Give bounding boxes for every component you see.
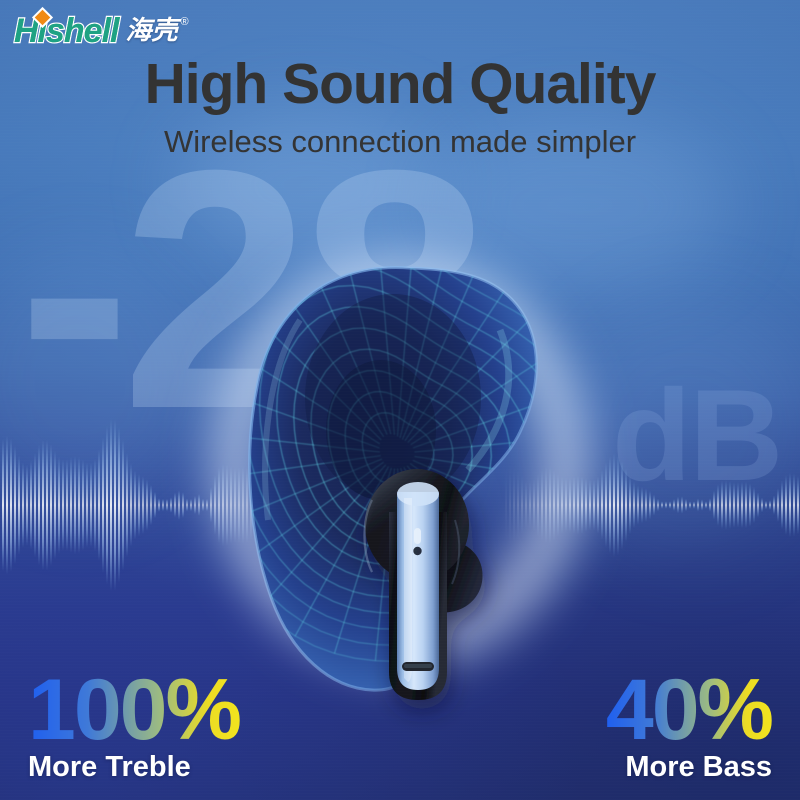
logo-wordmark: Hishell Hishell [14, 14, 118, 48]
page-title: High Sound Quality [0, 56, 800, 113]
brand-logo[interactable]: Hishell Hishell 海壳 ® [14, 14, 189, 48]
registered-mark-icon: ® [181, 16, 189, 28]
logo-chinese-text: 海壳 [125, 18, 177, 44]
stat-treble-value: 100% [28, 671, 240, 750]
stat-bass-label: More Bass [606, 752, 772, 784]
logo-wordmark-fill: Hishell [14, 14, 118, 48]
page-subtitle: Wireless connection made simpler [0, 126, 800, 157]
stat-treble: 100% More Treble [28, 671, 240, 784]
poster-canvas: -28 dB [0, 0, 800, 800]
stat-bass-value: 40% [606, 671, 772, 750]
stat-bass: 40% More Bass [606, 671, 772, 784]
